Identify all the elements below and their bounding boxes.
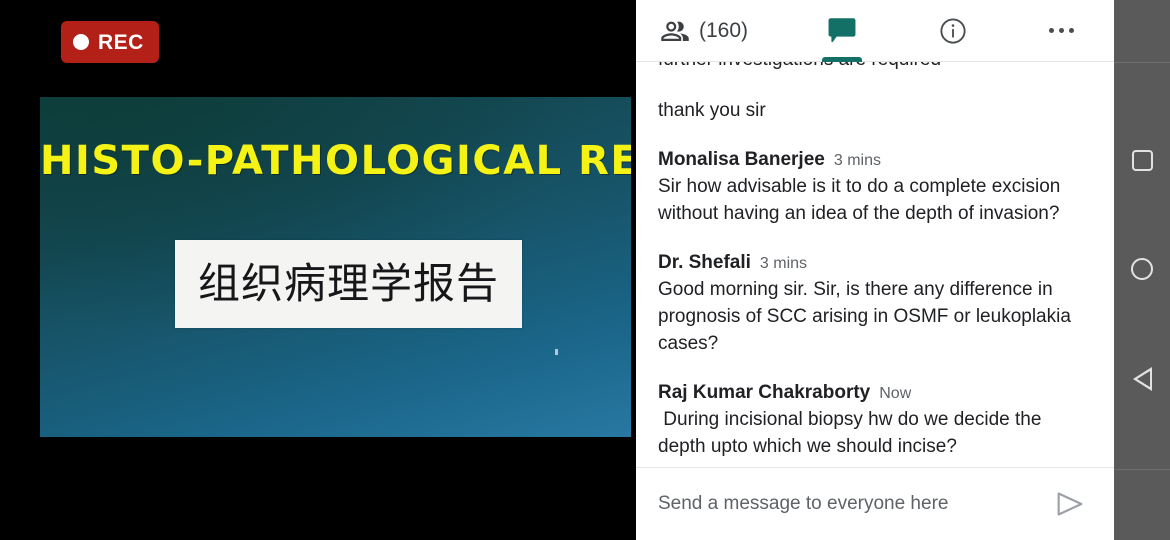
navbar-divider-top [1114, 62, 1170, 63]
chat-message-text: further investigations are required [658, 62, 1092, 73]
chat-bubble-icon [825, 14, 859, 48]
slide-title: HISTO-PATHOLOGICAL REPORT [40, 138, 631, 184]
message-input[interactable] [658, 492, 1048, 516]
tab-meeting-info[interactable] [898, 0, 1008, 62]
chat-message-list[interactable]: further investigations are required than… [636, 62, 1114, 467]
chat-header-tabs: (160) [636, 0, 1114, 62]
chat-message-author: Dr. Shefali [658, 251, 751, 275]
participants-count: (160) [699, 20, 748, 41]
slide-subtitle-text: 组织病理学报告 [198, 263, 499, 305]
chat-compose-bar [636, 467, 1114, 540]
recording-badge: REC [61, 21, 159, 63]
app-screen: REC HISTO-PATHOLOGICAL REPORT 组织病理学报告 [0, 0, 1170, 540]
chat-panel: (160) [636, 0, 1114, 540]
back-triangle-icon [1131, 367, 1153, 391]
chat-message-text: thank you sir [658, 97, 1092, 124]
chat-message-text: Sir how advisable is it to do a complete… [658, 173, 1092, 227]
chat-message: thank you sir [658, 97, 1092, 124]
recording-label: REC [98, 32, 144, 53]
tab-participants[interactable]: (160) [636, 0, 786, 62]
slide-subtitle-box: 组织病理学报告 [175, 240, 522, 328]
chat-message-author: Raj Kumar Chakraborty [658, 381, 870, 405]
android-navigation-bar [1114, 0, 1170, 540]
home-circle-icon [1131, 258, 1153, 280]
chat-message-text: During incisional biopsy hw do we decide… [658, 406, 1092, 460]
presentation-slide: HISTO-PATHOLOGICAL REPORT 组织病理学报告 [40, 97, 631, 437]
chat-message: Monalisa Banerjee 3 mins Sir how advisab… [658, 148, 1092, 227]
mouse-cursor [555, 349, 558, 355]
send-button[interactable] [1048, 482, 1092, 526]
chat-message-timestamp: 3 mins [834, 150, 881, 172]
info-circle-icon [938, 16, 968, 46]
chat-message-meta: Dr. Shefali 3 mins [658, 251, 1092, 275]
more-options-icon [1049, 28, 1074, 33]
chat-message-meta: Raj Kumar Chakraborty Now [658, 381, 1092, 405]
send-icon [1053, 487, 1087, 521]
navbar-divider-bottom [1114, 469, 1170, 470]
chat-message: further investigations are required [658, 62, 1092, 73]
recents-square-icon [1132, 150, 1153, 171]
more-options-button[interactable] [1008, 0, 1114, 62]
home-button[interactable] [1114, 243, 1170, 295]
chat-message-meta: Monalisa Banerjee 3 mins [658, 148, 1092, 172]
chat-message-text: Good morning sir. Sir, is there any diff… [658, 276, 1092, 357]
back-button[interactable] [1114, 353, 1170, 405]
record-dot-icon [73, 34, 89, 50]
people-icon [660, 16, 690, 46]
chat-message-author: Monalisa Banerjee [658, 148, 825, 172]
chat-message-timestamp: Now [879, 383, 911, 405]
chat-message-timestamp: 3 mins [760, 253, 807, 275]
video-stage[interactable]: REC HISTO-PATHOLOGICAL REPORT 组织病理学报告 [0, 0, 636, 540]
chat-message: Raj Kumar Chakraborty Now During incisio… [658, 381, 1092, 460]
tab-chat[interactable] [786, 0, 898, 62]
recents-button[interactable] [1114, 134, 1170, 186]
active-tab-indicator [822, 57, 862, 62]
chat-message: Dr. Shefali 3 mins Good morning sir. Sir… [658, 251, 1092, 357]
